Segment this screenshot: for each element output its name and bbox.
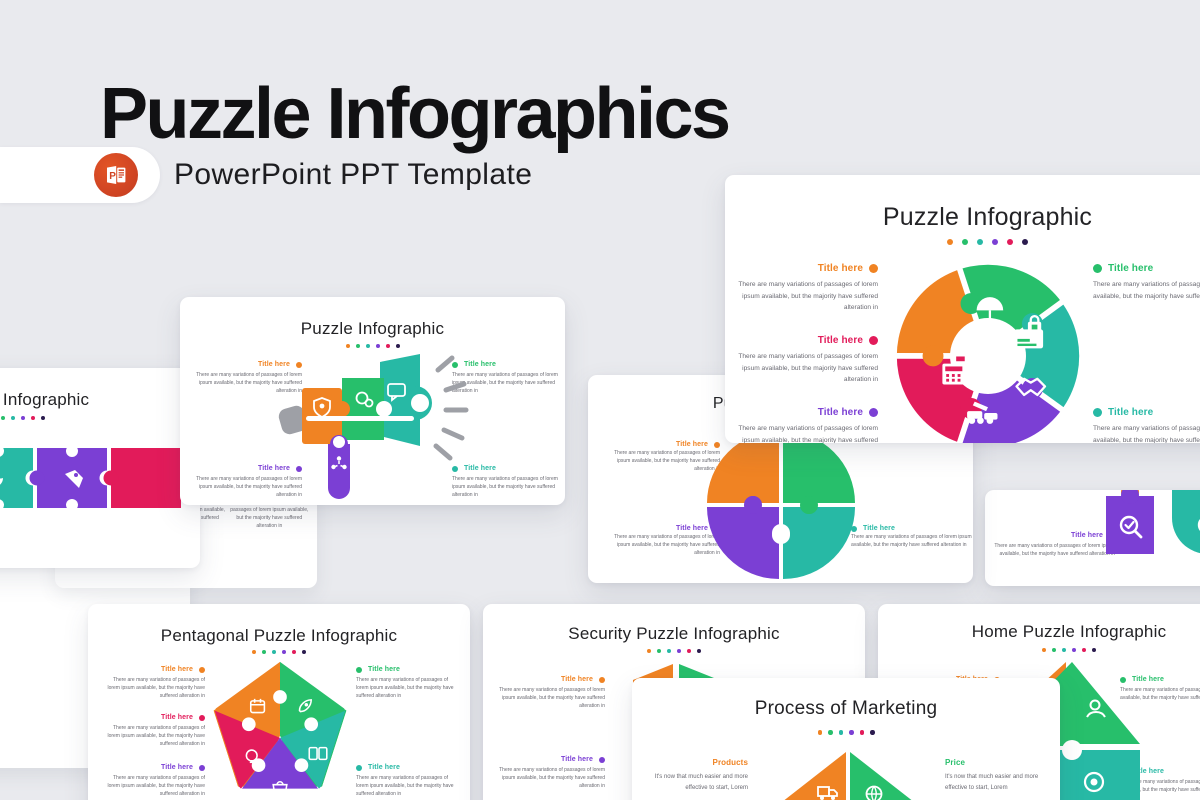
item-body: There are many variations of passages of… <box>100 676 205 700</box>
slide-right-fragment[interactable]: Title here There are many variations of … <box>985 490 1200 586</box>
powerpoint-glyph: P <box>103 162 129 188</box>
item-title: Title here <box>818 407 863 418</box>
slide-title: Process of Marketing <box>632 698 1060 720</box>
item-body: There are many variations of passages of… <box>356 676 461 700</box>
puzzle-strip <box>0 448 200 508</box>
text-item: Title here There are many variations of … <box>100 764 205 798</box>
item-body: There are many variations of passages of… <box>100 774 205 798</box>
dot-indicator <box>88 650 470 654</box>
text-item: Title here There are many variations of … <box>729 335 878 386</box>
bullet-dot <box>869 264 878 273</box>
item-title: Title here <box>368 666 400 673</box>
item-body: There are many variations of passages of… <box>851 534 973 550</box>
slide-circle-5-main[interactable]: Puzzle Infographic Title here There are … <box>725 175 1200 443</box>
slide-megaphone[interactable]: Puzzle Infographic Title here There are … <box>180 297 565 505</box>
text-item: Title here There are many variations of … <box>729 407 878 443</box>
dot-indicator <box>878 648 1200 652</box>
text-item: Title here There are many variations of … <box>100 714 205 748</box>
item-body: There are many variations of passages of… <box>735 279 878 314</box>
slide-title: Puzzle Infographic <box>180 319 565 339</box>
slide-title: Puzzle Infographic <box>725 203 1200 232</box>
item-title: Title here <box>161 764 193 771</box>
dot-indicator <box>0 416 200 420</box>
item-title: Title here <box>1108 407 1153 418</box>
item-body: There are many variations of passages of… <box>1093 279 1200 302</box>
text-item: Title here There are many variations of … <box>356 666 461 700</box>
text-item: Title here There are many variations of … <box>100 666 205 700</box>
quadrant-purple <box>707 507 779 579</box>
item-body: It's now that much easier and more effec… <box>650 772 748 795</box>
text-item: Title here There are many variations of … <box>1093 263 1200 302</box>
puzzle-fragment <box>1090 490 1200 586</box>
item-body: There are many variations of passages of… <box>495 766 605 790</box>
hero-subtitle-row: P PowerPoint PPT Template <box>0 147 532 203</box>
item-title: Title here <box>561 676 593 683</box>
bullet-dot <box>869 408 878 417</box>
text-item: Title here There are many variations of … <box>1093 407 1200 443</box>
slide-title: Security Puzzle Infographic <box>483 624 865 644</box>
puzzle-piece-tag <box>30 445 115 511</box>
bullet-dot <box>869 336 878 345</box>
puzzle-marketing <box>774 750 922 800</box>
powerpoint-icon: P <box>94 153 138 197</box>
puzzle-piece-box <box>104 448 182 508</box>
item-title: Price <box>945 758 1050 767</box>
svg-text:P: P <box>109 171 116 182</box>
item-body: There are many variations of passages of… <box>729 351 878 386</box>
slide-title: Puzzle Infographic <box>0 390 200 410</box>
text-item: Price It's now that much easier and more… <box>945 758 1050 795</box>
text-item: Products It's now that much easier and m… <box>650 758 748 795</box>
dot-indicator <box>632 730 1060 735</box>
text-item: Title here There are many variations of … <box>495 756 605 790</box>
puzzle-pentagon <box>202 656 358 800</box>
text-item: Title here There are many variations of … <box>356 764 461 798</box>
dot-indicator <box>483 649 865 653</box>
item-title: Title here <box>368 764 400 771</box>
item-body: There are many variations of passages of… <box>1093 423 1200 443</box>
item-body: There are many variations of passages of… <box>729 423 878 443</box>
page-subtitle: PowerPoint PPT Template <box>174 158 532 192</box>
slide-pentagon[interactable]: Pentagonal Puzzle Infographic Title here… <box>88 604 470 800</box>
item-title: Title here <box>818 263 863 274</box>
slide-title: Home Puzzle Infographic <box>878 622 1200 642</box>
item-title: Title here <box>818 335 863 346</box>
slide-process-marketing[interactable]: Process of Marketing Products It's now t… <box>632 678 1060 800</box>
slide-row-strip[interactable]: Puzzle Infographic <box>0 368 200 568</box>
item-body: There are many variations of passages of… <box>356 774 461 798</box>
item-body: There are many variations of passages of… <box>495 686 605 710</box>
quadrant-teal <box>783 507 855 579</box>
puzzle-megaphone <box>280 352 475 497</box>
text-item: Title here There are many variations of … <box>735 263 878 314</box>
puzzle-donut <box>893 261 1083 443</box>
item-title: Title here <box>863 525 895 532</box>
page-title: Puzzle Infographics <box>100 78 729 150</box>
slide-title: Pentagonal Puzzle Infographic <box>88 626 470 646</box>
bullet-dot <box>1093 264 1102 273</box>
text-item: Title here There are many variations of … <box>851 525 973 550</box>
powerpoint-badge-pill: P <box>0 147 160 203</box>
item-body: It's now that much easier and more effec… <box>945 772 1050 795</box>
item-title: Products <box>650 758 748 767</box>
item-title: Title here <box>561 756 593 763</box>
puzzle-quadrant <box>701 425 861 583</box>
poster-stage: easier and more orem uch easier and more… <box>0 0 1200 800</box>
item-body: There are many variations of passages of… <box>100 724 205 748</box>
item-title: Title here <box>1108 263 1153 274</box>
dot-indicator <box>180 344 565 348</box>
dot-indicator <box>725 239 1200 245</box>
bullet-dot <box>1093 408 1102 417</box>
text-item: Title here There are many variations of … <box>495 676 605 710</box>
item-title: Title here <box>161 666 193 673</box>
item-title: Title here <box>161 714 193 721</box>
